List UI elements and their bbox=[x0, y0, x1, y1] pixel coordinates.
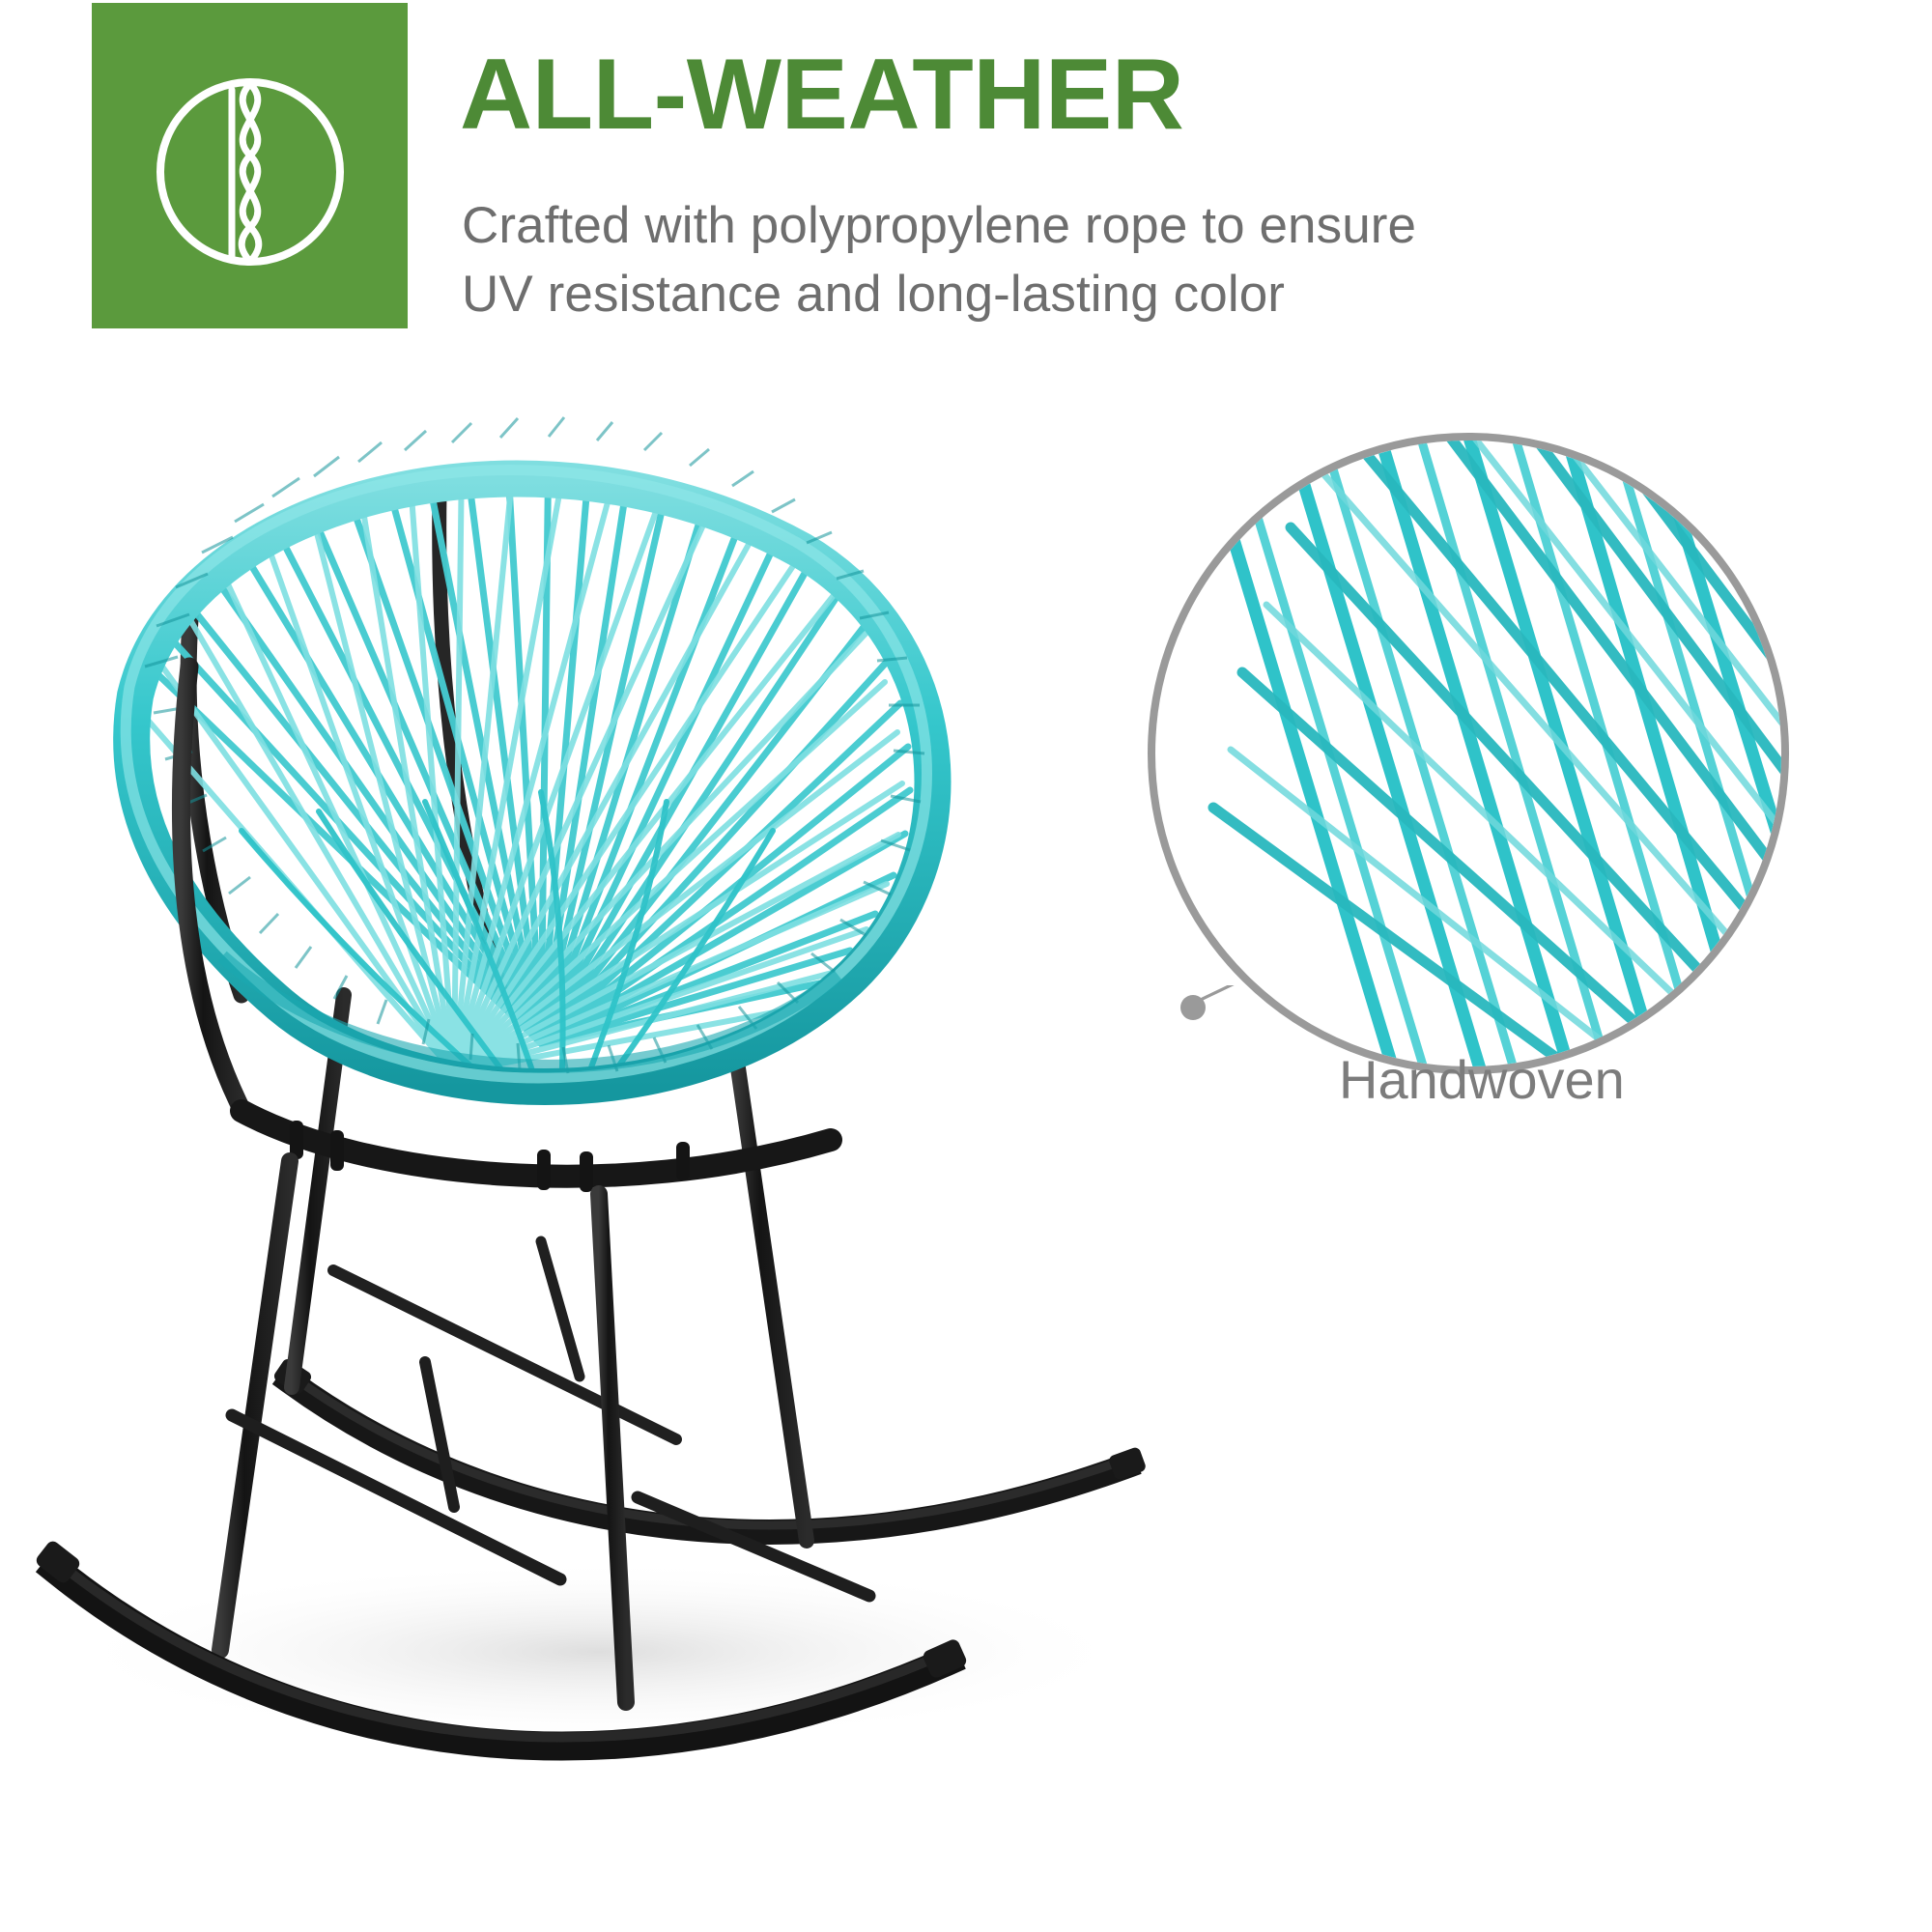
rope-weave-detail bbox=[1148, 433, 1789, 1074]
detail-zoom-circle bbox=[1148, 433, 1789, 1074]
product-image bbox=[0, 377, 1285, 1884]
callout-label: Handwoven bbox=[1339, 1048, 1625, 1111]
woven-seat-shell bbox=[126, 417, 932, 1115]
page-subtitle: Crafted with polypropylene rope to ensur… bbox=[462, 191, 1416, 328]
feature-panel: ALL-WEATHER Crafted with polypropylene r… bbox=[0, 0, 1932, 1932]
all-weather-badge bbox=[92, 3, 408, 328]
page-title: ALL-WEATHER bbox=[460, 44, 1183, 145]
twisted-rope-in-circle-icon bbox=[149, 71, 352, 273]
callout-anchor-dot bbox=[1180, 995, 1206, 1020]
